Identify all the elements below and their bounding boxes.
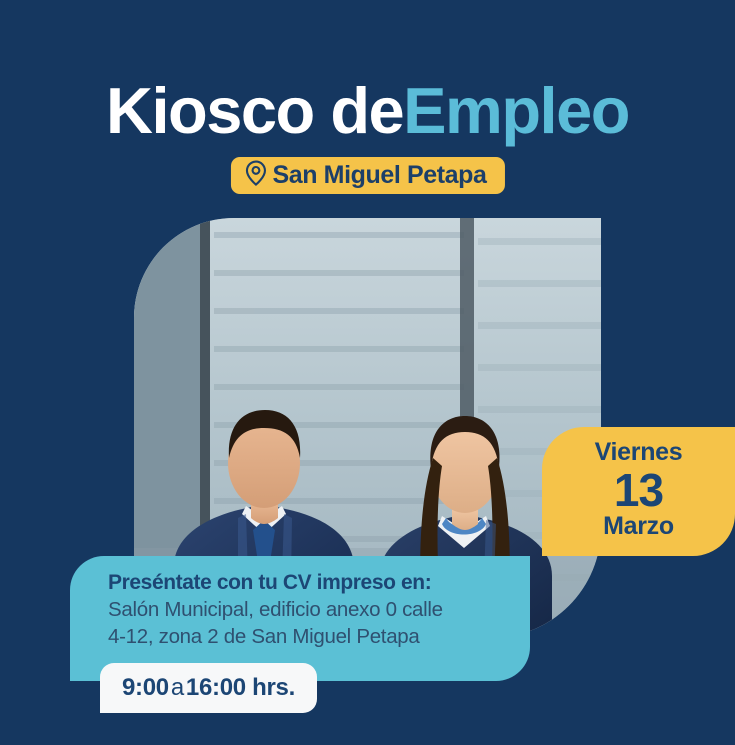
time-start: 9:00 <box>122 676 169 700</box>
info-panel-heading: Preséntate con tu CV impreso en: <box>108 570 530 596</box>
location-badge: San Miguel Petapa <box>230 157 504 194</box>
time-separator: a <box>169 676 186 700</box>
info-panel-address-line-2: 4-12, zona 2 de San Miguel Petapa <box>108 623 530 650</box>
title-part-primary: Kiosco de <box>106 74 403 147</box>
map-pin-icon <box>244 160 266 191</box>
time-end: 16:00 hrs. <box>186 676 295 700</box>
info-panel-address-line-1: Salón Municipal, edificio anexo 0 calle <box>108 596 530 623</box>
location-badge-label: San Miguel Petapa <box>272 163 486 188</box>
date-month: Marzo <box>542 513 735 541</box>
date-badge: Viernes 13 Marzo <box>542 427 735 556</box>
date-day-number: 13 <box>542 467 735 514</box>
date-weekday: Viernes <box>542 439 735 467</box>
title-part-accent: Empleo <box>403 74 629 147</box>
page-title: Kiosco deEmpleo <box>0 78 735 143</box>
time-chip: 9:00 a 16:00 hrs. <box>100 663 317 713</box>
poster-canvas: Kiosco deEmpleo San Miguel Petapa <box>0 0 735 745</box>
